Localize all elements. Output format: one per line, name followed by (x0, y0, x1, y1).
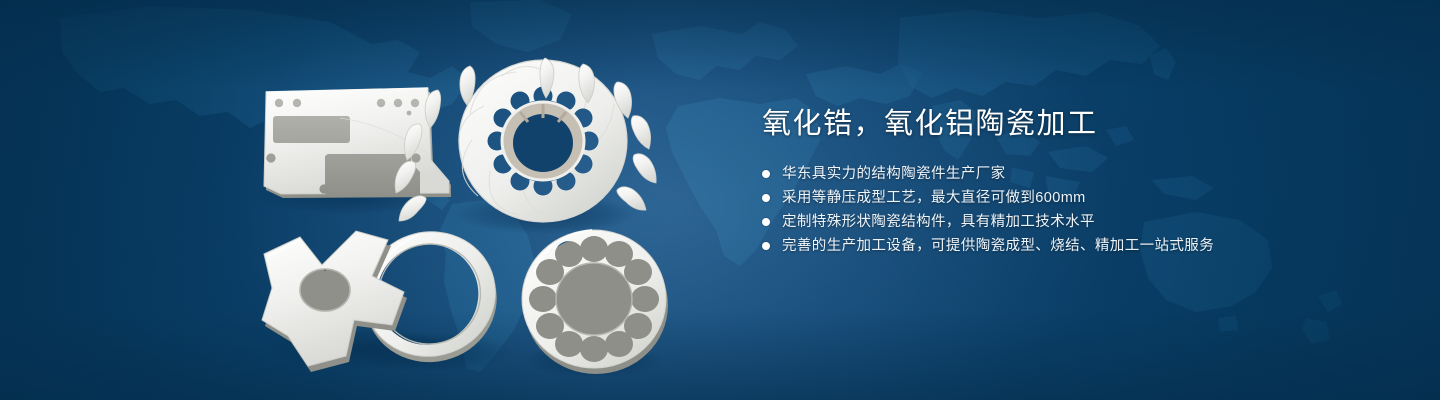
list-item-label: 定制特殊形状陶瓷结构件，具有精加工技术水平 (782, 214, 1095, 230)
ceramic-hole-disc-product (522, 230, 668, 374)
list-item: 采用等静压成型工艺，最大直径可做到600mm (762, 190, 1382, 206)
list-item: 华东具实力的结构陶瓷件生产厂家 (762, 166, 1382, 182)
list-item: 完善的生产加工设备，可提供陶瓷成型、烧结、精加工一站式服务 (762, 238, 1382, 254)
ceramic-plate-product (264, 88, 451, 198)
bullet-dot-icon (762, 242, 770, 250)
list-item-label: 采用等静压成型工艺，最大直径可做到600mm (782, 190, 1086, 206)
banner-copy-block: 氧化锆，氧化铝陶瓷加工 华东具实力的结构陶瓷件生产厂家 采用等静压成型工艺，最大… (762, 104, 1382, 254)
page-title: 氧化锆，氧化铝陶瓷加工 (762, 104, 1382, 144)
feature-list: 华东具实力的结构陶瓷件生产厂家 采用等静压成型工艺，最大直径可做到600mm 定… (762, 166, 1382, 254)
ceramic-processing-banner: 氧化锆，氧化铝陶瓷加工 华东具实力的结构陶瓷件生产厂家 采用等静压成型工艺，最大… (0, 0, 1440, 400)
bullet-dot-icon (762, 170, 770, 178)
bullet-dot-icon (762, 194, 770, 202)
bullet-dot-icon (762, 218, 770, 226)
ceramic-products-group (0, 0, 720, 400)
list-item-label: 华东具实力的结构陶瓷件生产厂家 (782, 166, 1006, 182)
list-item: 定制特殊形状陶瓷结构件，具有精加工技术水平 (762, 214, 1382, 230)
list-item-label: 完善的生产加工设备，可提供陶瓷成型、烧结、精加工一站式服务 (782, 238, 1214, 254)
